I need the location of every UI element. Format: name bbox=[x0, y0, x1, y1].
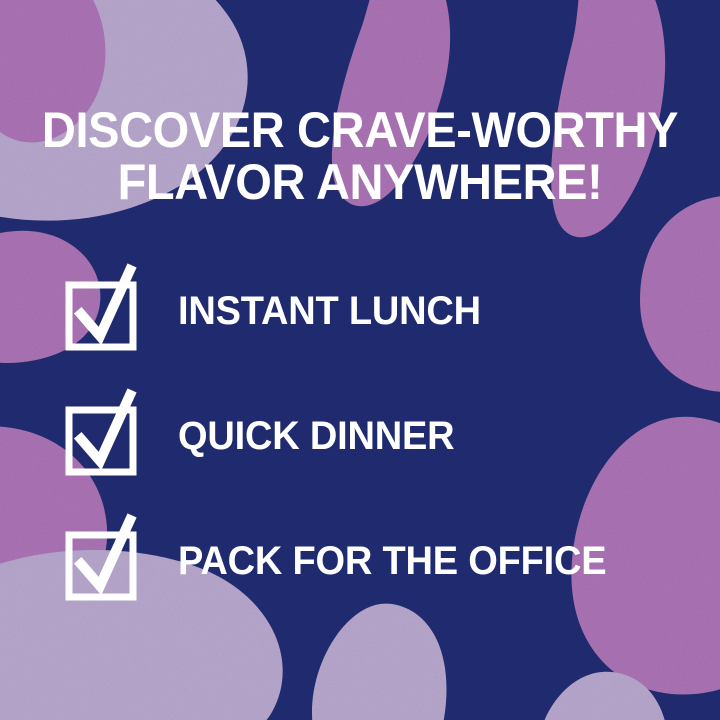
checked-checkbox-icon bbox=[64, 512, 142, 604]
list-item: INSTANT LUNCH bbox=[0, 262, 720, 387]
checklist: INSTANT LUNCH QUICK DINNER bbox=[0, 262, 720, 637]
list-item: PACK FOR THE OFFICE bbox=[0, 512, 720, 637]
list-item: QUICK DINNER bbox=[0, 387, 720, 512]
headline: DISCOVER CRAVE-WORTHY FLAVOR ANYWHERE! bbox=[22, 104, 699, 208]
headline-line-2: FLAVOR ANYWHERE! bbox=[22, 156, 699, 208]
checked-checkbox-icon bbox=[64, 387, 142, 479]
promotional-poster: DISCOVER CRAVE-WORTHY FLAVOR ANYWHERE! I… bbox=[0, 0, 720, 720]
headline-line-1: DISCOVER CRAVE-WORTHY bbox=[22, 104, 699, 156]
checked-checkbox-icon bbox=[64, 262, 142, 354]
list-item-label: INSTANT LUNCH bbox=[178, 290, 481, 332]
list-item-label: PACK FOR THE OFFICE bbox=[178, 540, 606, 582]
list-item-label: QUICK DINNER bbox=[178, 415, 454, 457]
